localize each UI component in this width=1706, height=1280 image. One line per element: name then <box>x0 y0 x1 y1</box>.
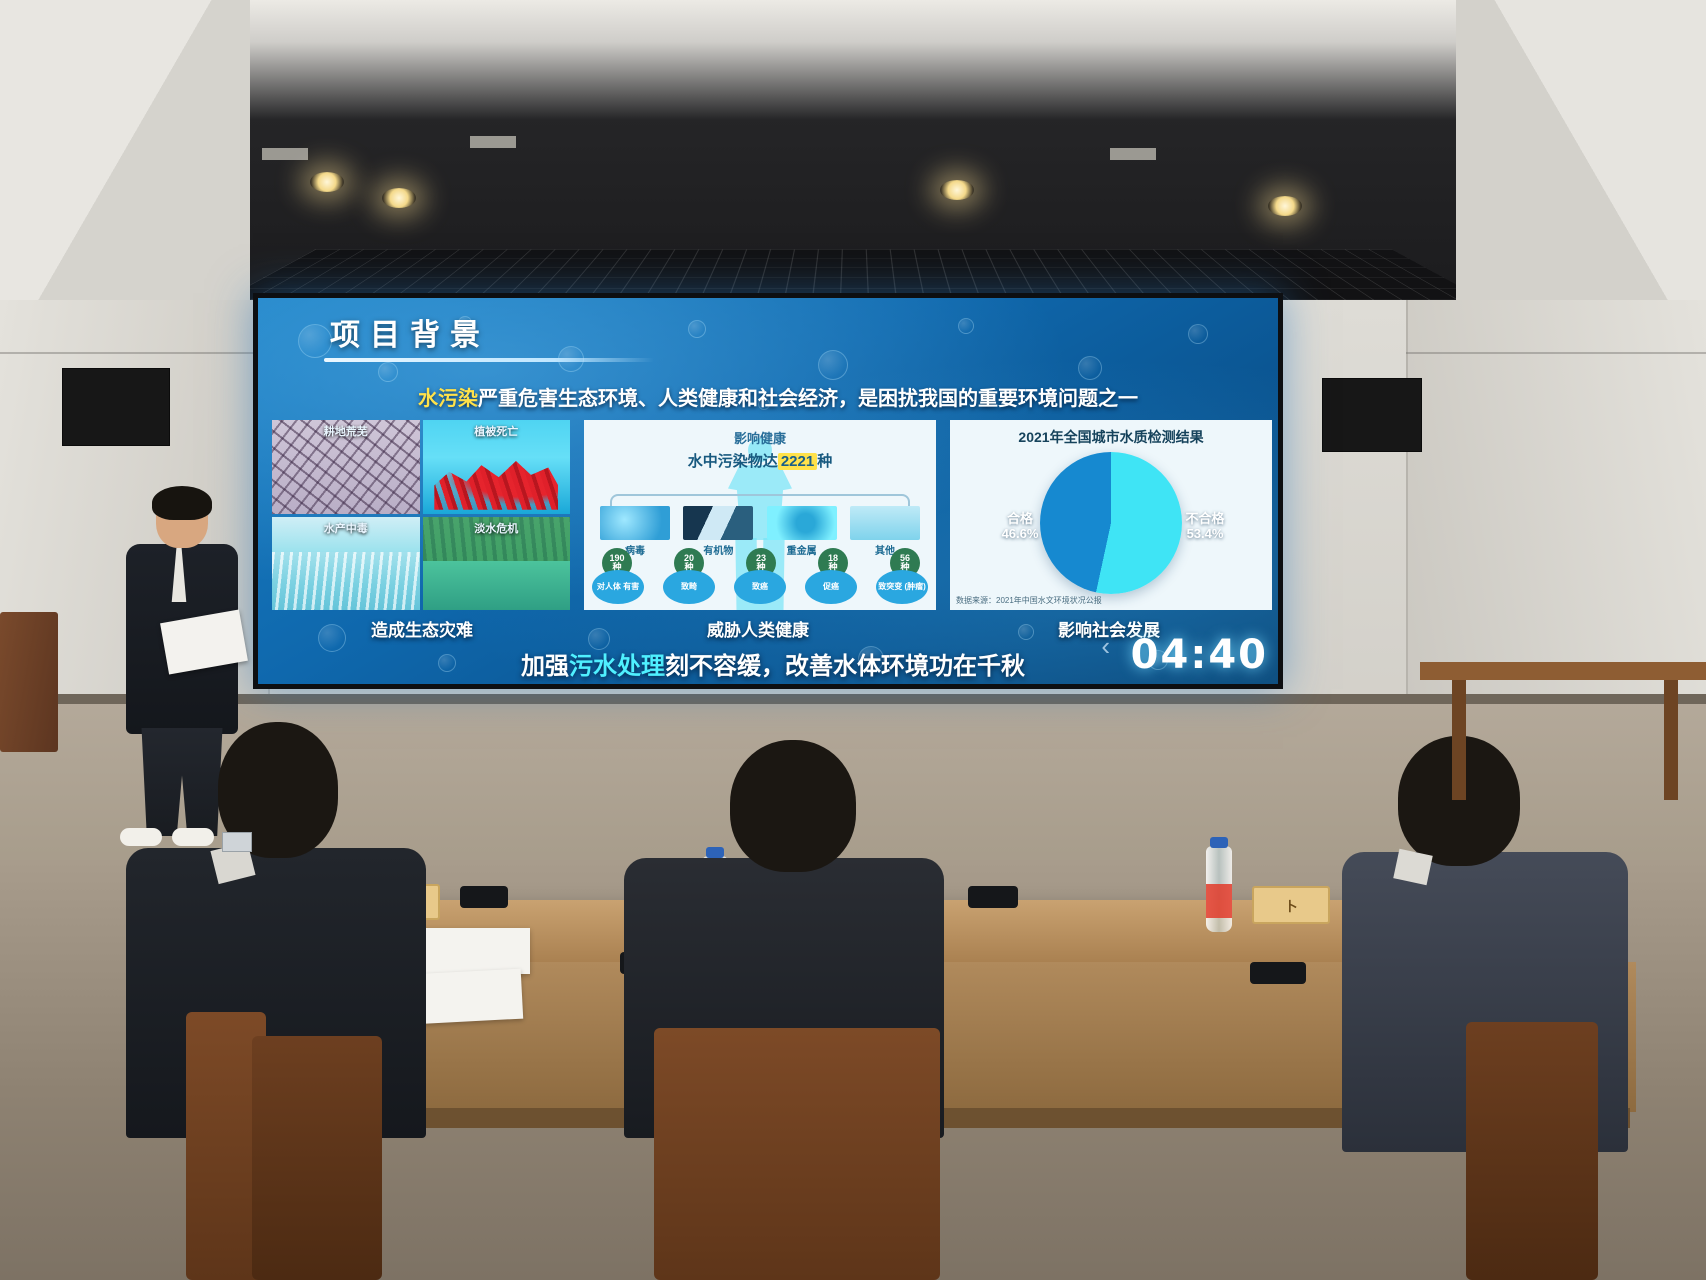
footer-highlight: 污水处理 <box>569 653 665 680</box>
panel-captions: 造成生态灾难 威胁人类健康 影响社会发展 <box>272 616 1274 641</box>
downlight-icon <box>310 172 344 192</box>
subtitle-rest: 严重危害生态环境、人类健康和社会经济，是困扰我国的重要环境问题之一 <box>478 388 1138 410</box>
slide-panels: 耕地荒芜 植被死亡 水产中毒 淡水危机 影响健康 水中污染 <box>272 420 1274 610</box>
side-table-leg <box>1664 680 1678 800</box>
category-thumb <box>767 506 837 540</box>
thumbnail-freshwater: 淡水危机 <box>423 517 571 611</box>
countdown-timer: 04:40 <box>1131 632 1268 678</box>
caption-health: 威胁人类健康 <box>572 616 944 641</box>
slide-title: 项目背景 <box>330 310 490 354</box>
thumbnail-label: 水产中毒 <box>272 520 420 536</box>
pie-slice-label: 合格 <box>984 512 1056 527</box>
category-thumb <box>850 506 920 540</box>
caption-ecological: 造成生态灾难 <box>272 616 572 641</box>
attendee-badge <box>222 832 252 852</box>
health-heading: 影响健康 <box>584 428 936 447</box>
acoustic-panel <box>1322 378 1422 452</box>
nameplate-text: 卜 <box>1284 896 1297 915</box>
chair-left-back <box>252 1036 382 1280</box>
phone <box>968 886 1018 908</box>
pollutant-count-line: 水中污染物达2221种 <box>584 450 936 471</box>
pie-slice-value: 46.6% <box>984 527 1056 542</box>
title-underline <box>324 358 654 362</box>
thumbnail-label: 耕地荒芜 <box>272 423 420 439</box>
footer-pre: 加强 <box>521 653 569 680</box>
brace-connector <box>610 494 910 506</box>
conference-room-scene: 项目背景 水污染严重危害生态环境、人类健康和社会经济，是困扰我国的重要环境问题之… <box>0 0 1706 1280</box>
panel-water-quality-chart: 2021年全国城市水质检测结果 合格 46.6% 不合格 53.4% 数据来源：… <box>950 420 1272 610</box>
nameplate-right: 卜 <box>1252 886 1330 924</box>
thumbnail-vegetation: 植被死亡 <box>423 420 571 514</box>
pie-slice-value: 53.4% <box>1166 527 1244 542</box>
chart-title: 2021年全国城市水质检测结果 <box>950 427 1272 447</box>
effect-badge: 致突变 (肿瘤) <box>876 570 928 604</box>
ceiling-right-soffit <box>1456 0 1706 330</box>
ceiling <box>0 0 1706 330</box>
category-thumb <box>683 506 753 540</box>
effect-badge: 促癌 <box>805 570 857 604</box>
thumbnail-aquatic: 水产中毒 <box>272 517 420 611</box>
pollutant-count-number: 2221 <box>778 453 817 470</box>
paper-sheet <box>410 928 530 974</box>
presenter-shoe-right <box>172 828 214 846</box>
chart-source-note: 数据来源：2021年中国水文环境状况公报 <box>956 595 1102 606</box>
phone <box>1250 962 1306 984</box>
panel-ecological-damage: 耕地荒芜 植被死亡 水产中毒 淡水危机 <box>272 420 570 610</box>
side-table-leg <box>1452 680 1466 800</box>
pie-chart <box>1040 452 1182 594</box>
footer-post: 刻不容缓，改善水体环境功在千秋 <box>665 653 1025 680</box>
chair-right <box>1466 1022 1598 1280</box>
attendee-head <box>730 740 856 872</box>
pollutant-count-suffix: 种 <box>817 453 832 470</box>
panel-human-health: 影响健康 水中污染物达2221种 病毒 有机物 <box>584 420 936 610</box>
ceiling-fade <box>0 0 1706 120</box>
pie-slice-pass: 合格 46.6% <box>984 512 1056 542</box>
slide-footer-tagline: 加强污水处理刻不容缓，改善水体环境功在千秋 <box>258 646 1283 681</box>
effect-badge: 对人体 有害 <box>592 570 644 604</box>
downlight-icon <box>1268 196 1302 216</box>
podium <box>0 612 58 752</box>
effect-badge: 致癌 <box>734 570 786 604</box>
chevron-left-icon: ‹ <box>1101 631 1110 662</box>
effect-badges: 对人体 有害 致畸 致癌 促癌 致突变 (肿瘤) <box>592 570 928 604</box>
effect-badge: 致畸 <box>663 570 715 604</box>
chair-center <box>654 1028 940 1280</box>
ceiling-vent <box>470 136 516 148</box>
presenter-shoe-left <box>120 828 162 846</box>
side-table <box>1420 662 1706 680</box>
downlight-icon <box>382 188 416 208</box>
thumbnail-farmland: 耕地荒芜 <box>272 420 420 514</box>
water-bottle <box>1206 846 1232 932</box>
phone <box>460 886 508 908</box>
slide-subtitle: 水污染严重危害生态环境、人类健康和社会经济，是困扰我国的重要环境问题之一 <box>298 382 1258 411</box>
presenter-hair <box>152 486 212 520</box>
category-thumb <box>600 506 670 540</box>
thumbnail-label: 植被死亡 <box>423 423 571 439</box>
pollutant-count-prefix: 水中污染物达 <box>688 453 778 470</box>
ceiling-left-soffit <box>0 0 250 330</box>
downlight-icon <box>940 180 974 200</box>
projection-screen[interactable]: 项目背景 水污染严重危害生态环境、人类健康和社会经济，是困扰我国的重要环境问题之… <box>253 293 1283 689</box>
wall-seam <box>1406 352 1706 354</box>
wall-seam <box>0 352 270 354</box>
pie-slice-label: 不合格 <box>1166 512 1244 527</box>
ceiling-vent <box>262 148 308 160</box>
acoustic-panel <box>62 368 170 446</box>
presenter-legs <box>138 728 226 836</box>
ceiling-vent <box>1110 148 1156 160</box>
subtitle-highlight: 水污染 <box>418 388 478 410</box>
thumbnail-label: 淡水危机 <box>423 520 571 536</box>
pie-slice-fail: 不合格 53.4% <box>1166 512 1244 542</box>
